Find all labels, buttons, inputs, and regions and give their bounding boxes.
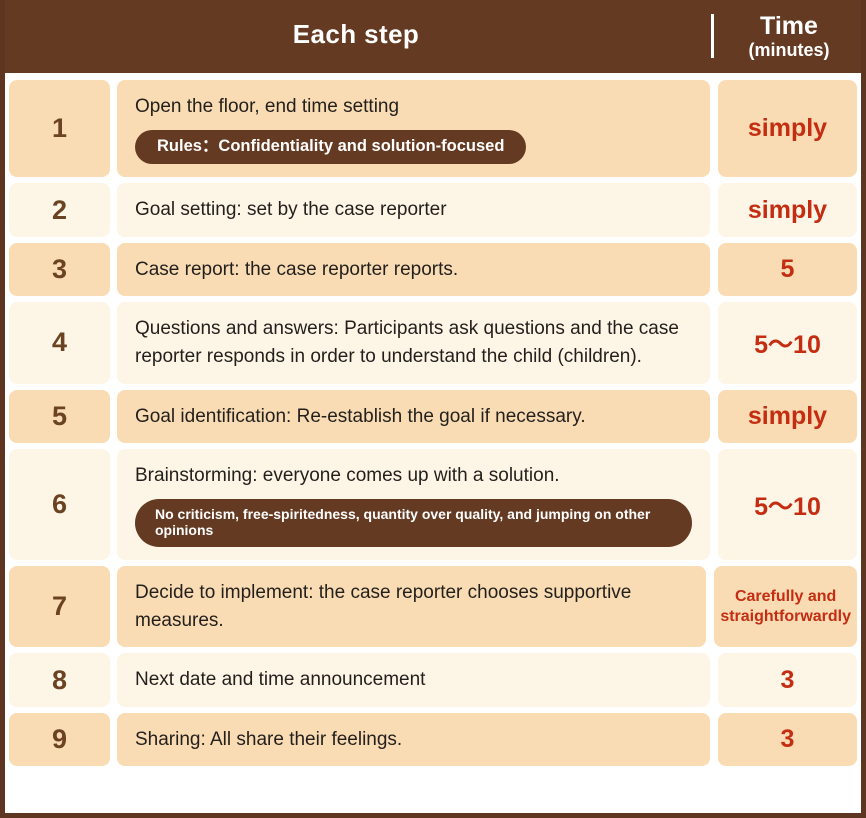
step-description-text: Sharing: All share their feelings.	[135, 726, 692, 754]
step-description-text: Decide to implement: the case reporter c…	[135, 579, 688, 634]
header-time-group: Time (minutes)	[712, 0, 866, 73]
step-number-cell: 6	[9, 449, 110, 560]
header-time-sublabel: (minutes)	[749, 41, 830, 60]
step-number-cell: 2	[9, 183, 110, 237]
step-number-cell: 7	[9, 566, 110, 647]
step-description-text: Questions and answers: Participants ask …	[135, 315, 692, 370]
step-time-cell: simply	[718, 80, 857, 177]
table-body: 1Open the floor, end time settingRules：C…	[5, 73, 861, 772]
step-description-text: Case report: the case reporter reports.	[135, 256, 692, 284]
table-row: 8Next date and time announcement3	[9, 653, 857, 707]
step-number-cell: 8	[9, 653, 110, 707]
step-time-cell: Carefully and straightforwardly	[714, 566, 857, 647]
step-note-badge: No criticism, free-spiritedness, quantit…	[135, 499, 692, 548]
step-time-cell: 5〜10	[718, 302, 857, 383]
step-number-cell: 3	[9, 243, 110, 297]
step-number-cell: 1	[9, 80, 110, 177]
step-number-cell: 5	[9, 390, 110, 444]
table-header: Each step Time (minutes)	[0, 0, 866, 73]
table-row: 7Decide to implement: the case reporter …	[9, 566, 857, 647]
step-time-cell: simply	[718, 390, 857, 444]
step-description-cell: Goal setting: set by the case reporter	[117, 183, 710, 237]
step-description-text: Next date and time announcement	[135, 666, 692, 694]
step-time-cell: 5〜10	[718, 449, 857, 560]
process-steps-table: Each step Time (minutes) 1Open the floor…	[0, 0, 866, 818]
step-number-cell: 4	[9, 302, 110, 383]
table-row: 1Open the floor, end time settingRules：C…	[9, 80, 857, 177]
step-description-cell: Open the floor, end time settingRules：Co…	[117, 80, 710, 177]
header-each-step: Each step	[0, 0, 712, 73]
step-time-cell: simply	[718, 183, 857, 237]
step-description-text: Brainstorming: everyone comes up with a …	[135, 462, 692, 490]
table-row: 4Questions and answers: Participants ask…	[9, 302, 857, 383]
step-description-text: Goal setting: set by the case reporter	[135, 196, 692, 224]
step-description-cell: Case report: the case reporter reports.	[117, 243, 710, 297]
header-time-label: Time	[760, 13, 818, 39]
step-description-text: Open the floor, end time setting	[135, 93, 692, 121]
step-description-cell: Decide to implement: the case reporter c…	[117, 566, 706, 647]
step-number-cell: 9	[9, 713, 110, 767]
header-vertical-divider	[711, 14, 714, 58]
step-description-cell: Questions and answers: Participants ask …	[117, 302, 710, 383]
step-description-text: Goal identification: Re-establish the go…	[135, 403, 692, 431]
table-row: 2Goal setting: set by the case reporters…	[9, 183, 857, 237]
table-row: 9Sharing: All share their feelings.3	[9, 713, 857, 767]
table-row: 6Brainstorming: everyone comes up with a…	[9, 449, 857, 560]
step-description-cell: Goal identification: Re-establish the go…	[117, 390, 710, 444]
step-description-cell: Next date and time announcement	[117, 653, 710, 707]
step-time-cell: 3	[718, 713, 857, 767]
step-note-badge: Rules：Confidentiality and solution-focus…	[135, 130, 526, 165]
table-row: 3Case report: the case reporter reports.…	[9, 243, 857, 297]
table-row: 5Goal identification: Re-establish the g…	[9, 390, 857, 444]
step-time-cell: 5	[718, 243, 857, 297]
step-description-cell: Sharing: All share their feelings.	[117, 713, 710, 767]
step-time-cell: 3	[718, 653, 857, 707]
step-description-cell: Brainstorming: everyone comes up with a …	[117, 449, 710, 560]
